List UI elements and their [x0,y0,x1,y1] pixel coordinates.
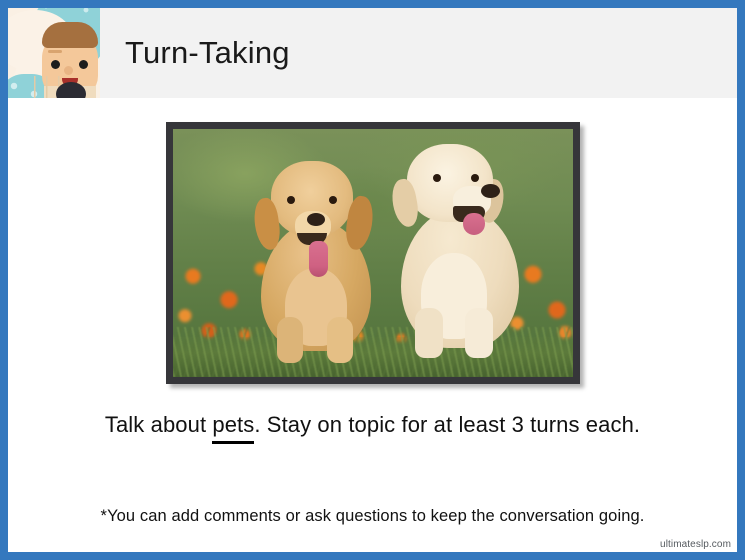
puppy-right-eye-1 [433,174,441,182]
puppy-left-eye-2 [329,196,337,204]
avatar [8,8,100,98]
slide-frame: Turn-Taking [0,0,745,560]
puppy-right-eye-2 [471,174,479,182]
puppy-left-eye-1 [287,196,295,204]
puppy-right-nose [481,184,500,198]
avatar-eyebrow [48,50,62,53]
slide-header: Turn-Taking [8,8,737,98]
photo-grass-blades [173,327,573,377]
avatar-nose [64,66,73,75]
puppy-left-leg-2 [327,317,353,363]
puppy-right-leg-2 [465,308,493,358]
avatar-hair [42,22,98,48]
puppy-left-leg-1 [277,317,303,363]
puppy-left-tongue [309,241,328,277]
page-title: Turn-Taking [125,35,290,71]
instruction-suffix: . Stay on topic for at least 3 turns eac… [254,412,640,437]
footnote-text: *You can add comments or ask questions t… [8,507,737,526]
instruction-keyword: pets [212,412,254,437]
puppies-photo [173,129,573,377]
watermark: ultimateslp.com [660,539,731,550]
puppies-photo-frame [166,122,580,384]
avatar-eye-right [79,60,88,69]
instruction-text: Talk about pets. Stay on topic for at le… [8,412,737,438]
instruction-prefix: Talk about [105,412,213,437]
avatar-eye-left [51,60,60,69]
puppy-right-leg-1 [415,308,443,358]
